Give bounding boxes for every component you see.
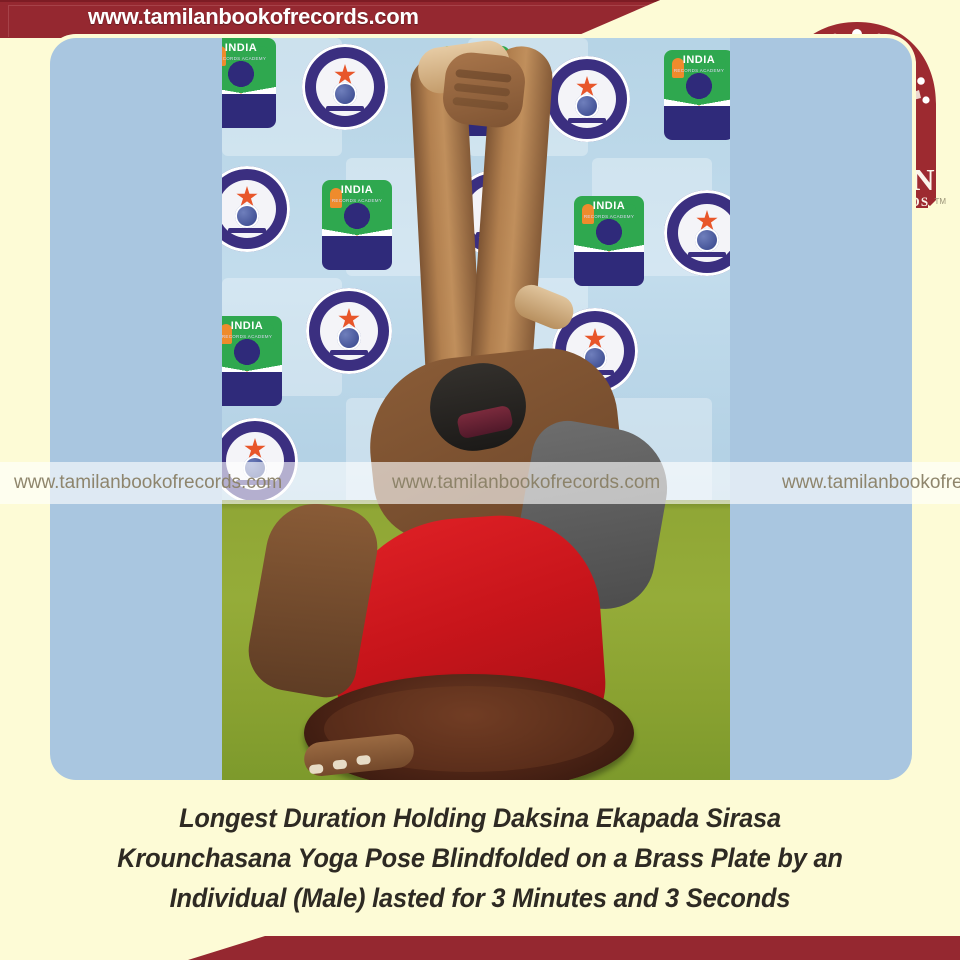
- yoga-performer: [222, 38, 730, 780]
- caption-line-2: Krounchasana Yoga Pose Blindfolded on a …: [95, 838, 866, 878]
- top-banner-url-text: www.tamilanbookofrecords.com: [88, 4, 419, 30]
- record-caption: Longest Duration Holding Daksina Ekapada…: [70, 798, 890, 918]
- watermark-text: www.tamilanbookofrecords.com: [782, 472, 960, 494]
- record-photo: INDIA RECORDS ACADEMY INDIA RECORDS ACAD…: [222, 38, 730, 780]
- trademark-mark: TM: [934, 197, 946, 206]
- caption-line-3: Individual (Male) lasted for 3 Minutes a…: [95, 878, 866, 918]
- watermark-text: www.tamilanbookofrecords.com: [392, 472, 660, 494]
- watermark-strip: www.tamilanbookofrecords.com www.tamilan…: [0, 462, 960, 504]
- photo-panel: INDIA RECORDS ACADEMY INDIA RECORDS ACAD…: [50, 38, 912, 780]
- bottom-accent-banner: [0, 936, 960, 960]
- gripping-hand: [440, 50, 527, 130]
- record-poster: www.tamilanbookofrecords.com: [0, 0, 960, 960]
- watermark-text: www.tamilanbookofrecords.com: [14, 472, 282, 494]
- caption-line-1: Longest Duration Holding Daksina Ekapada…: [95, 798, 866, 838]
